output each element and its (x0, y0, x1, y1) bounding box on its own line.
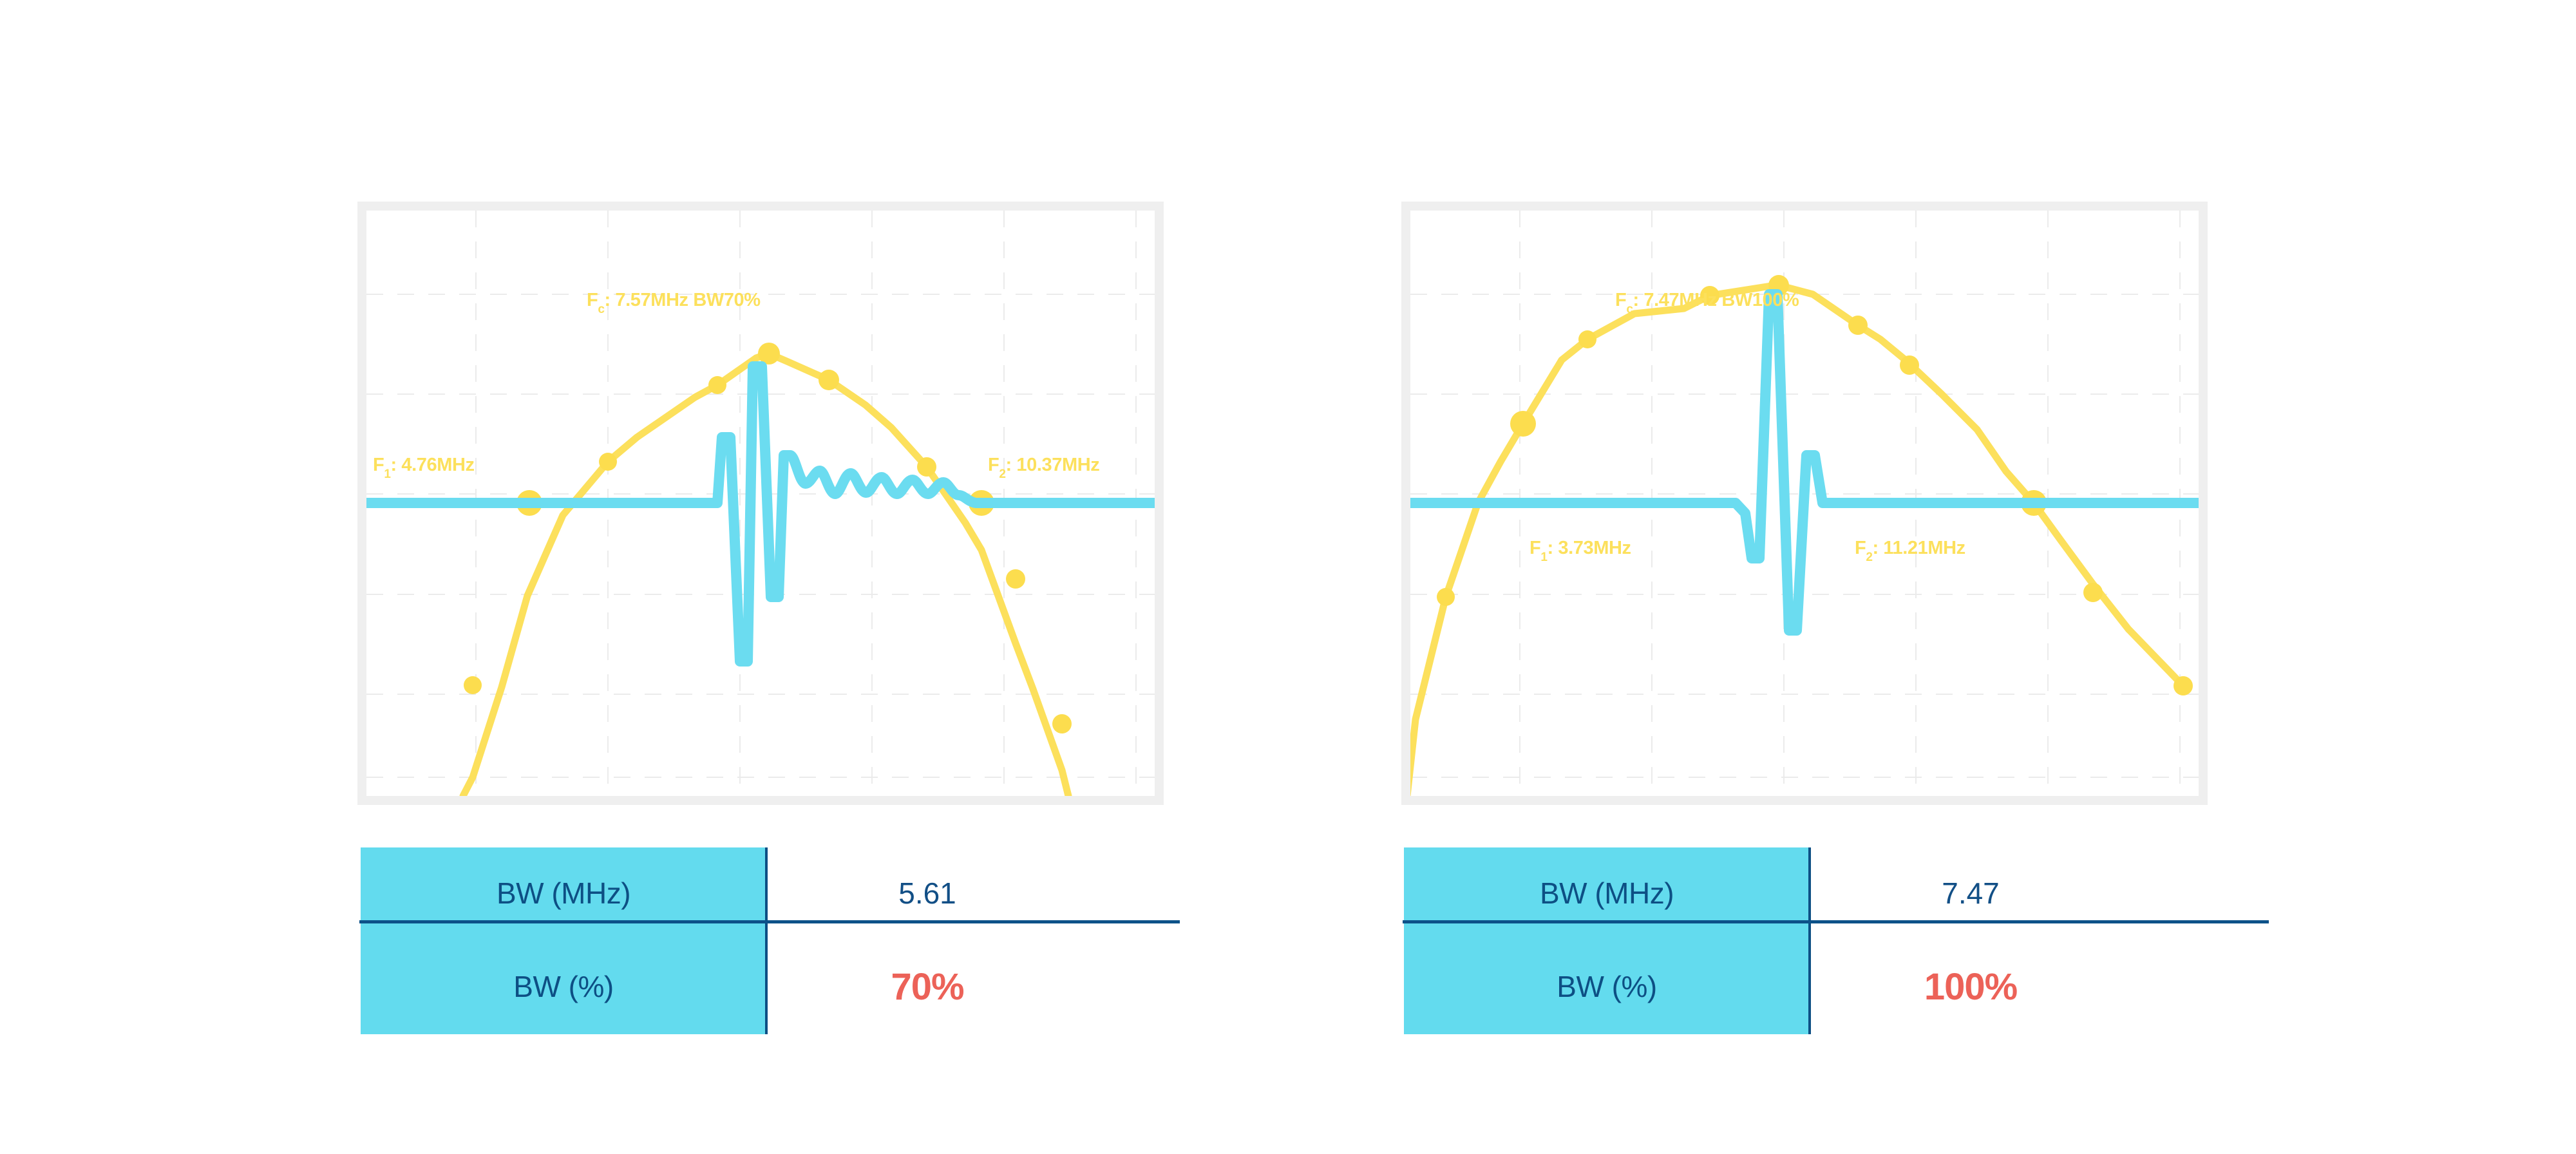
chart-frame-left: Fc: 7.57MHz BW70% F1: 4.76MHz F2: 10.37M… (357, 202, 1164, 805)
bw-table-right: BW (MHz) 7.47 BW (%) 100% (1404, 847, 2235, 1034)
table-value-cell-bw-pct-left: 70% (766, 939, 1088, 1034)
annotation-center-left: Fc: 7.57MHz BW70% (587, 290, 761, 316)
annotation-f2-text-right: : 11.21MHz (1873, 538, 1965, 558)
table-value-bw-pct-left: 70% (891, 965, 963, 1008)
annotation-f1-prefix-right: F (1529, 538, 1540, 558)
table-row-bw-pct-right: BW (%) 100% (1404, 939, 2235, 1034)
chart-svg-right: Fc: 7.47MHz BW100% F1: 3.73MHz F2: 11.21… (1410, 211, 2199, 796)
annotation-f2-prefix-right: F (1855, 538, 1866, 558)
chart-plot-area-left: Fc: 7.57MHz BW70% F1: 4.76MHz F2: 10.37M… (366, 211, 1155, 796)
table-row-divider-right (1403, 920, 2269, 923)
annotation-f2-right: F2: 11.21MHz (1855, 538, 1965, 564)
table-header-cell-bw-mhz-right: BW (MHz) (1404, 847, 1810, 939)
annotation-f2-sub-right: 2 (1866, 551, 1872, 564)
annotation-f1-right: F1: 3.73MHz (1529, 538, 1631, 564)
table-value-cell-bw-mhz-left: 5.61 (766, 847, 1088, 939)
table-value-cell-bw-pct-right: 100% (1810, 939, 2132, 1034)
table-row-divider-left (359, 920, 1180, 923)
annotation-f1-text-left: : 4.76MHz (391, 455, 475, 475)
table-row-bw-mhz-left: BW (MHz) 5.61 (361, 847, 1191, 939)
annotation-f1-text-right: : 3.73MHz (1548, 538, 1631, 558)
table-column-divider-right (1808, 847, 1811, 1034)
table-header-label-bw-mhz-right: BW (MHz) (1540, 876, 1674, 911)
table-value-bw-mhz-right: 7.47 (1942, 876, 2000, 911)
chart-plot-area-right: Fc: 7.47MHz BW100% F1: 3.73MHz F2: 11.21… (1410, 211, 2199, 796)
table-row-bw-mhz-right: BW (MHz) 7.47 (1404, 847, 2235, 939)
chart-svg-left: Fc: 7.57MHz BW70% F1: 4.76MHz F2: 10.37M… (366, 211, 1155, 796)
table-header-cell-bw-pct-right: BW (%) (1404, 939, 1810, 1034)
table-column-divider-left (765, 847, 768, 1034)
table-header-cell-bw-mhz-left: BW (MHz) (361, 847, 766, 939)
annotation-center-prefix-right: F (1615, 290, 1626, 310)
table-row-bw-pct-left: BW (%) 70% (361, 939, 1191, 1034)
table-value-bw-pct-right: 100% (1924, 965, 2017, 1008)
annotation-f1-left: F1: 4.76MHz (373, 455, 475, 481)
annotation-center-prefix-left: F (587, 290, 598, 310)
chart-frame-right: Fc: 7.47MHz BW100% F1: 3.73MHz F2: 11.21… (1401, 202, 2208, 805)
table-value-bw-mhz-left: 5.61 (898, 876, 956, 911)
annotation-center-text-left: : 7.57MHz BW70% (605, 290, 761, 310)
table-value-cell-bw-mhz-right: 7.47 (1810, 847, 2132, 939)
annotation-f2-prefix-left: F (988, 455, 999, 475)
table-header-label-bw-mhz-left: BW (MHz) (497, 876, 630, 911)
table-header-label-bw-pct-right: BW (%) (1557, 969, 1656, 1004)
annotation-f1-prefix-left: F (373, 455, 384, 475)
annotation-f2-sub-left: 2 (999, 468, 1005, 481)
annotation-f2-left: F2: 10.37MHz (988, 455, 1099, 481)
table-header-cell-bw-pct-left: BW (%) (361, 939, 766, 1034)
pulse-waveform-right (1410, 294, 2199, 630)
pulse-waveform-left (366, 366, 1155, 661)
annotation-f2-text-left: : 10.37MHz (1006, 455, 1100, 475)
annotation-center-text-right: : 7.47MHz BW100% (1633, 290, 1800, 310)
table-header-label-bw-pct-left: BW (%) (513, 969, 613, 1004)
bw-table-left: BW (MHz) 5.61 BW (%) 70% (361, 847, 1191, 1034)
